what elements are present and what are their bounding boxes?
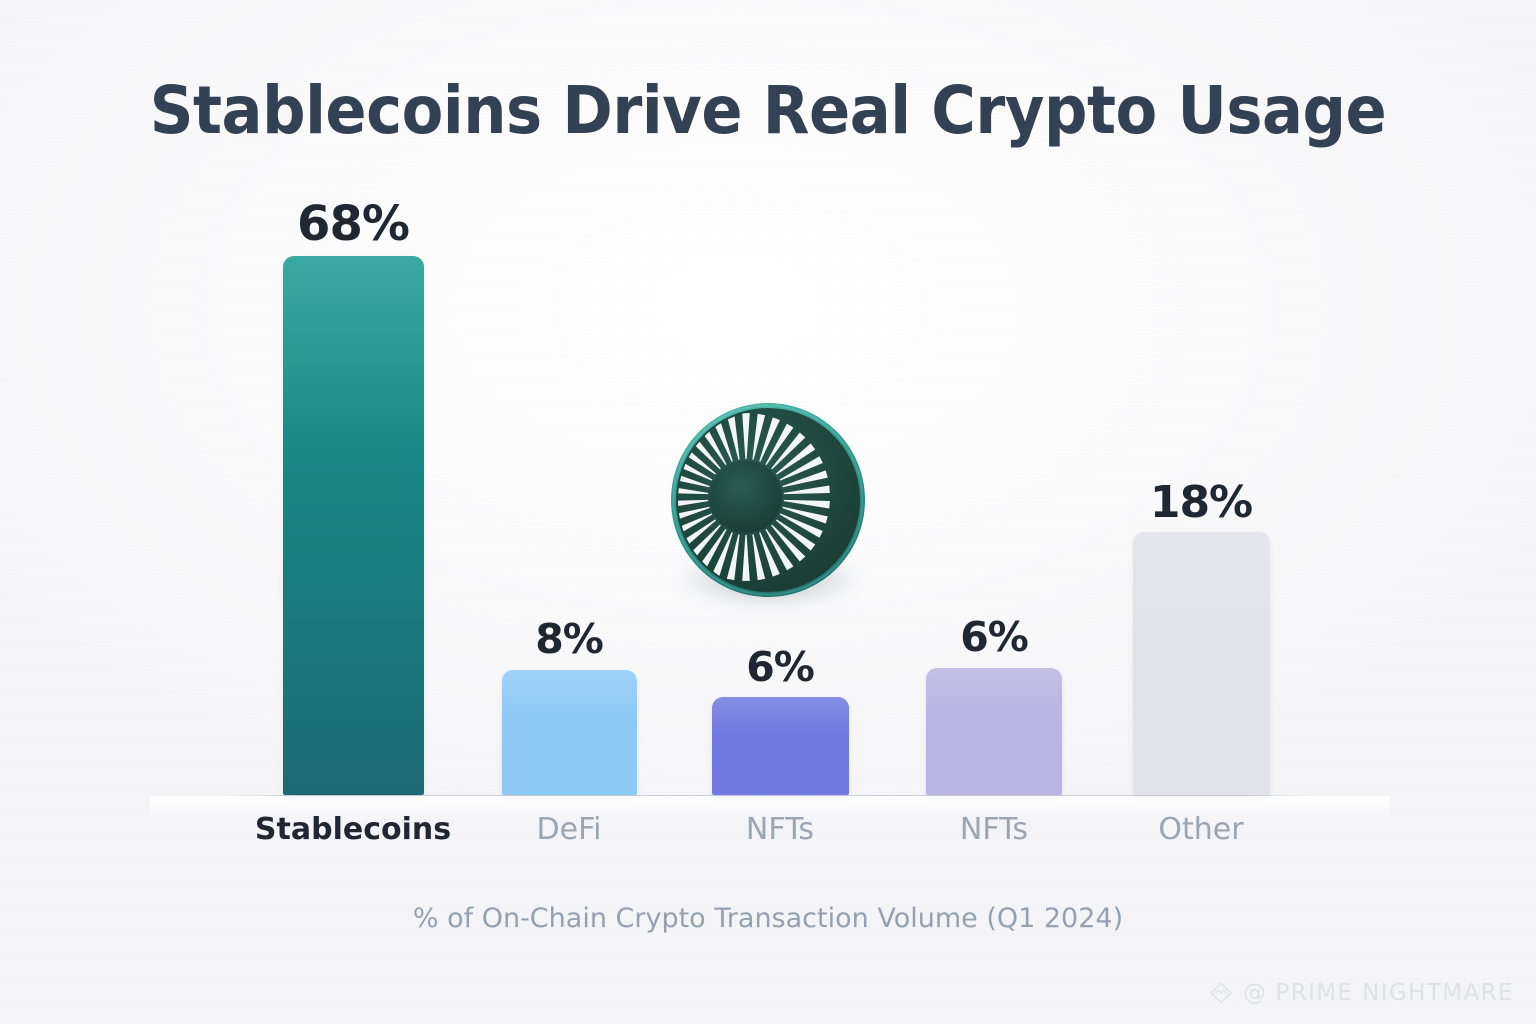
bar-value-label-3: 6%: [874, 613, 1114, 661]
bar-value-label-1: 8%: [449, 615, 689, 663]
bar-value-label-0: 68%: [233, 196, 473, 252]
watermark: @ PRIME NIGHTMARE: [1208, 980, 1514, 1006]
diamond-logo-icon: [1208, 980, 1234, 1006]
bar-nfts-2[interactable]: [712, 697, 849, 795]
bar-nfts-3[interactable]: [926, 668, 1062, 795]
bar-value-label-4: 18%: [1081, 477, 1321, 528]
category-label-4: Other: [1051, 812, 1351, 847]
chart-baseline-axis: [228, 795, 1310, 796]
chart-caption: % of On-Chain Crypto Transaction Volume …: [0, 903, 1536, 934]
bar-other-4[interactable]: [1133, 532, 1270, 795]
bar-value-label-2: 6%: [660, 643, 900, 691]
crypto-coin-emblem: [668, 400, 868, 600]
bar-defi-1[interactable]: [502, 670, 637, 795]
watermark-at-symbol: @: [1243, 980, 1267, 1006]
radial-spoke-coin-icon: [668, 400, 868, 600]
watermark-handle: PRIME NIGHTMARE: [1275, 980, 1514, 1006]
chart-poster: Stablecoins Drive Real Crypto Usage 68%S…: [0, 0, 1536, 1024]
bar-stablecoins-0[interactable]: [283, 256, 424, 795]
